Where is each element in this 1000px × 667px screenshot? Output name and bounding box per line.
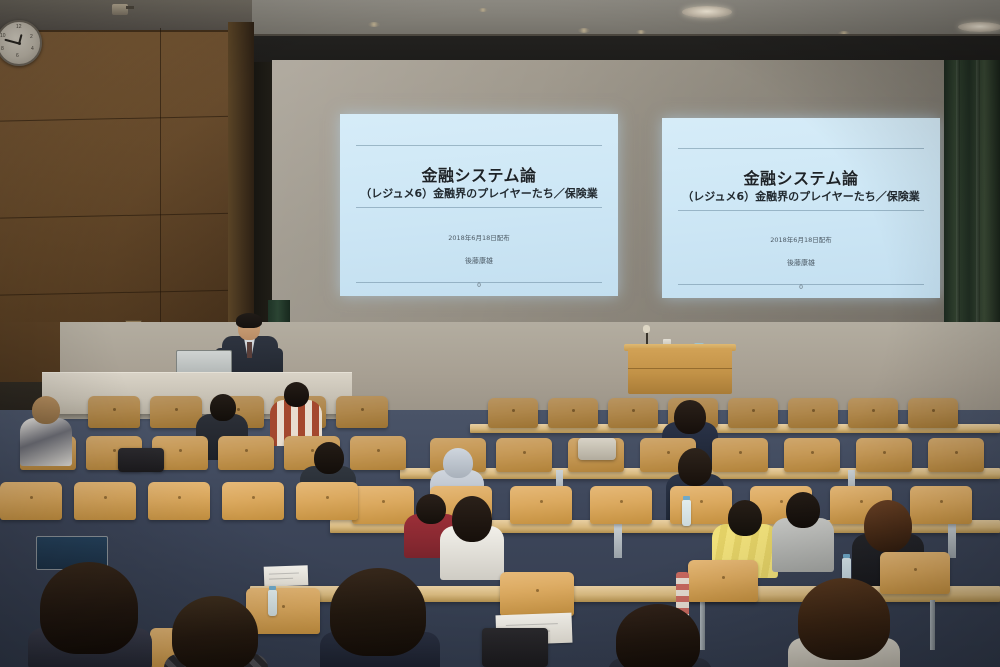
slide-right-title: 金融システム論 — [662, 165, 940, 189]
clock-minute-hand — [4, 39, 19, 44]
seat[interactable] — [350, 436, 406, 470]
lecturer-tie — [247, 342, 252, 358]
seat[interactable] — [336, 396, 388, 428]
seat[interactable] — [88, 396, 140, 428]
seat[interactable] — [222, 482, 284, 520]
slide-left-author: 後藤康雄 — [340, 256, 618, 266]
slide-left-subtitle: （レジュメ6）金融界のプレイヤーたち／保険業 — [340, 185, 618, 201]
student-head — [416, 494, 446, 524]
seat[interactable] — [784, 438, 840, 472]
lectern-right — [628, 348, 732, 394]
lectern-microphone-icon — [643, 325, 650, 333]
desk-leg — [930, 600, 935, 650]
student-head — [314, 442, 344, 474]
wall-speaker-arm — [126, 6, 134, 9]
student-head — [330, 568, 426, 656]
projected-slide-right: 金融システム論 （レジュメ6）金融界のプレイヤーたち／保険業 2018年6月18… — [662, 118, 940, 298]
slide-right-page-number: 0 — [662, 284, 940, 291]
student-head — [452, 496, 492, 542]
student-torso — [20, 418, 72, 466]
tote-bag — [482, 628, 548, 667]
seat[interactable] — [74, 482, 136, 520]
student-head — [798, 578, 890, 660]
seat[interactable] — [608, 398, 658, 428]
slide-left-title: 金融システム論 — [340, 162, 618, 186]
bottle-cap — [269, 586, 276, 590]
seat[interactable] — [510, 486, 572, 524]
water-bottle — [268, 590, 277, 616]
seat[interactable] — [688, 560, 758, 602]
ceiling-spot-icon — [478, 8, 488, 12]
seat[interactable] — [218, 436, 274, 470]
seat[interactable] — [296, 482, 358, 520]
slide-right-author: 後藤康雄 — [662, 258, 940, 268]
student-head — [40, 562, 138, 654]
seat[interactable] — [488, 398, 538, 428]
student-head — [864, 500, 912, 552]
seat[interactable] — [590, 486, 652, 524]
seat[interactable] — [548, 398, 598, 428]
seat[interactable] — [788, 398, 838, 428]
student-head — [616, 604, 700, 667]
seat[interactable] — [496, 438, 552, 472]
backpack — [118, 448, 164, 472]
ceiling-spot-icon — [578, 28, 590, 33]
seat[interactable] — [148, 482, 210, 520]
handbag — [578, 438, 616, 460]
desk-support — [948, 522, 956, 558]
wall-seam — [160, 28, 161, 328]
ceiling-light-icon — [682, 6, 732, 18]
student-head — [678, 448, 712, 486]
wall-corner-shadow — [228, 22, 254, 322]
student-head — [674, 400, 706, 434]
seat[interactable] — [928, 438, 984, 472]
projected-slide-left: 金融システム論 （レジュメ6）金融界のプレイヤーたち／保険業 2018年6月18… — [340, 114, 618, 296]
bottle-cap — [843, 554, 850, 558]
slide-left-page-number: 0 — [340, 282, 618, 289]
seat[interactable] — [856, 438, 912, 472]
seat[interactable] — [728, 398, 778, 428]
water-bottle — [682, 500, 691, 526]
student-head — [210, 394, 236, 421]
seat[interactable] — [880, 552, 950, 594]
lectern-seam — [628, 368, 732, 369]
seat[interactable] — [0, 482, 62, 520]
student-head — [786, 492, 820, 528]
slide-left-date: 2018年6月18日配布 — [340, 232, 618, 242]
slide-right-date: 2018年6月18日配布 — [662, 234, 940, 244]
seat[interactable] — [352, 486, 414, 524]
seat[interactable] — [910, 486, 972, 524]
seat[interactable] — [670, 486, 732, 524]
clock-center-pin — [18, 42, 21, 45]
seat[interactable] — [908, 398, 958, 428]
student-head — [284, 382, 309, 407]
student-head — [728, 500, 762, 536]
seat[interactable] — [150, 396, 202, 428]
desk-support — [614, 522, 622, 558]
seat[interactable] — [848, 398, 898, 428]
ceiling-spot-icon — [368, 22, 380, 27]
lecture-hall-photo: 金融システム論 （レジュメ6）金融界のプレイヤーたち／保険業 2018年6月18… — [0, 0, 1000, 667]
handout-paper — [264, 565, 309, 587]
seat[interactable] — [500, 572, 574, 616]
lecturer-hair — [236, 313, 262, 328]
slide-right-subtitle: （レジュメ6）金融界のプレイヤーたち／保険業 — [662, 188, 940, 204]
seat[interactable] — [712, 438, 768, 472]
ceiling-light-icon — [958, 22, 1000, 32]
desk-leg — [700, 600, 705, 650]
student-head — [172, 596, 258, 667]
student-head — [443, 448, 473, 478]
student-head — [32, 396, 60, 424]
bottle-cap — [683, 496, 690, 500]
